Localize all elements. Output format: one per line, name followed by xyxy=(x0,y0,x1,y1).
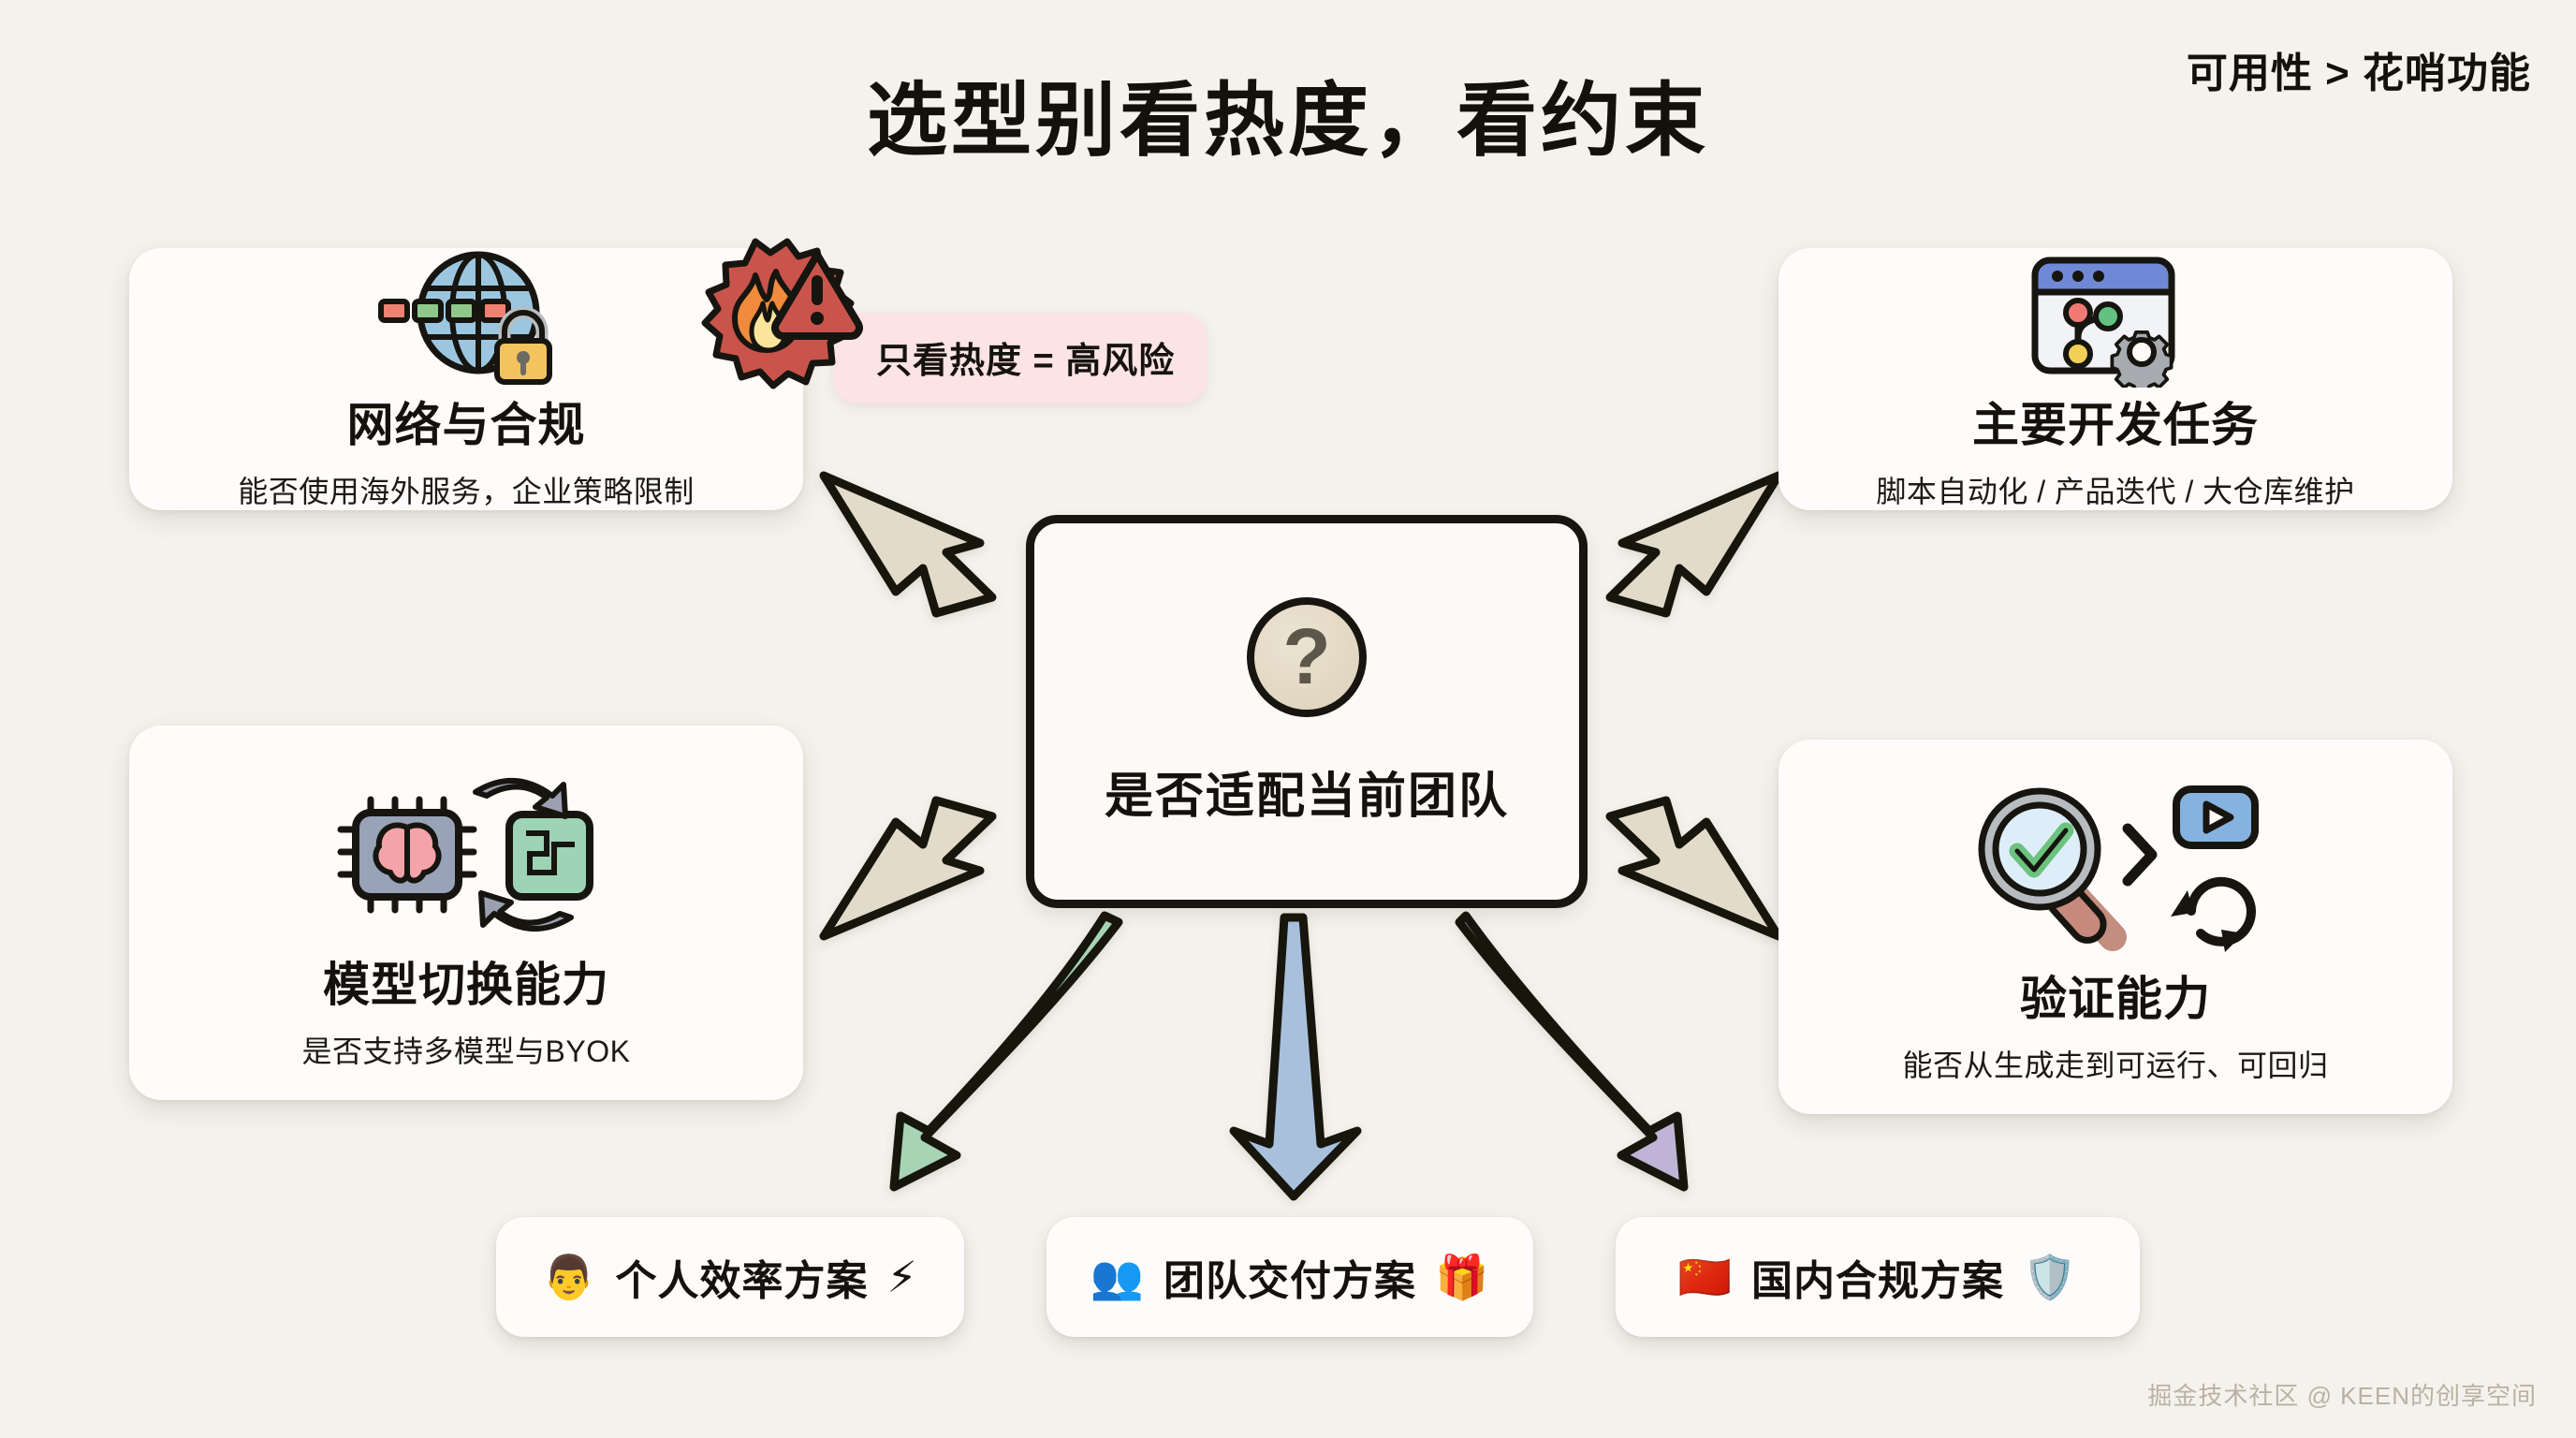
card-subtitle: 能否使用海外服务，企业策略限制 xyxy=(238,468,695,511)
browser-gitgraph-gear-icon xyxy=(2022,247,2209,388)
question-mark-icon: ? xyxy=(1247,597,1367,717)
arrow-center-to-domestic xyxy=(1459,916,1684,1187)
outcome-label: 个人效率方案 xyxy=(615,1247,868,1307)
card-title: 验证能力 xyxy=(2020,961,2211,1029)
card-model-switching[interactable]: 模型切换能力 是否支持多模型与BYOK xyxy=(129,726,803,1100)
outcome-pill-personal[interactable]: 👨 个人效率方案 ⚡ xyxy=(496,1217,964,1337)
arrow-network-to-center xyxy=(824,476,992,613)
watermark: 掘金技术社区 @ KEEN的创享空间 xyxy=(2147,1377,2537,1412)
card-title: 主要开发任务 xyxy=(1972,388,2259,455)
china-flag-icon: 🇨🇳 xyxy=(1678,1252,1733,1303)
outcome-label: 团队交付方案 xyxy=(1164,1247,1416,1307)
center-decision-box[interactable]: ? 是否适配当前团队 xyxy=(1026,515,1588,908)
card-main-dev-tasks[interactable]: 主要开发任务 脚本自动化 / 产品迭代 / 大仓库维护 xyxy=(1778,248,2452,510)
status-badge-risk: 只看热度 = 高风险 xyxy=(833,313,1207,404)
center-label: 是否适配当前团队 xyxy=(1105,756,1509,827)
arrow-tasks-to-center xyxy=(1610,476,1778,613)
card-verification[interactable]: 验证能力 能否从生成走到可运行、可回归 xyxy=(1778,740,2452,1114)
arrow-model-to-center xyxy=(824,800,992,936)
card-subtitle: 能否从生成走到可运行、可回归 xyxy=(1902,1042,2328,1085)
card-subtitle: 脚本自动化 / 产品迭代 / 大仓库维护 xyxy=(1876,468,2354,511)
people-group-icon: 👥 xyxy=(1090,1252,1145,1303)
tagline: 可用性 > 花哨功能 xyxy=(2187,39,2531,99)
gift-icon: 🎁 xyxy=(1435,1252,1489,1303)
arrow-center-to-team xyxy=(1234,917,1357,1196)
outcome-pill-domestic[interactable]: 🇨🇳 国内合规方案 🛡️ xyxy=(1616,1217,2140,1337)
person-icon: 👨 xyxy=(542,1252,596,1303)
card-title: 网络与合规 xyxy=(347,388,586,455)
arrow-center-to-personal xyxy=(894,916,1119,1187)
outcome-pill-team[interactable]: 👥 团队交付方案 🎁 xyxy=(1046,1217,1533,1337)
outcome-label: 国内合规方案 xyxy=(1751,1247,2004,1307)
infographic-canvas: 选型别看热度，看约束 可用性 > 花哨功能 网络与合规 能否使用海 xyxy=(0,0,2576,1438)
magnifier-check-play-loop-icon xyxy=(1970,769,2261,956)
lightning-icon: ⚡ xyxy=(886,1252,917,1302)
card-subtitle: 是否支持多模型与BYOK xyxy=(302,1028,631,1071)
globe-lock-icon xyxy=(359,247,574,388)
hot-risk-badge xyxy=(697,234,868,403)
shield-icon: 🛡️ xyxy=(2023,1252,2077,1303)
brain-chip-swap-icon xyxy=(326,755,607,942)
card-title: 模型切换能力 xyxy=(323,947,609,1015)
arrow-verify-to-center xyxy=(1610,800,1778,936)
